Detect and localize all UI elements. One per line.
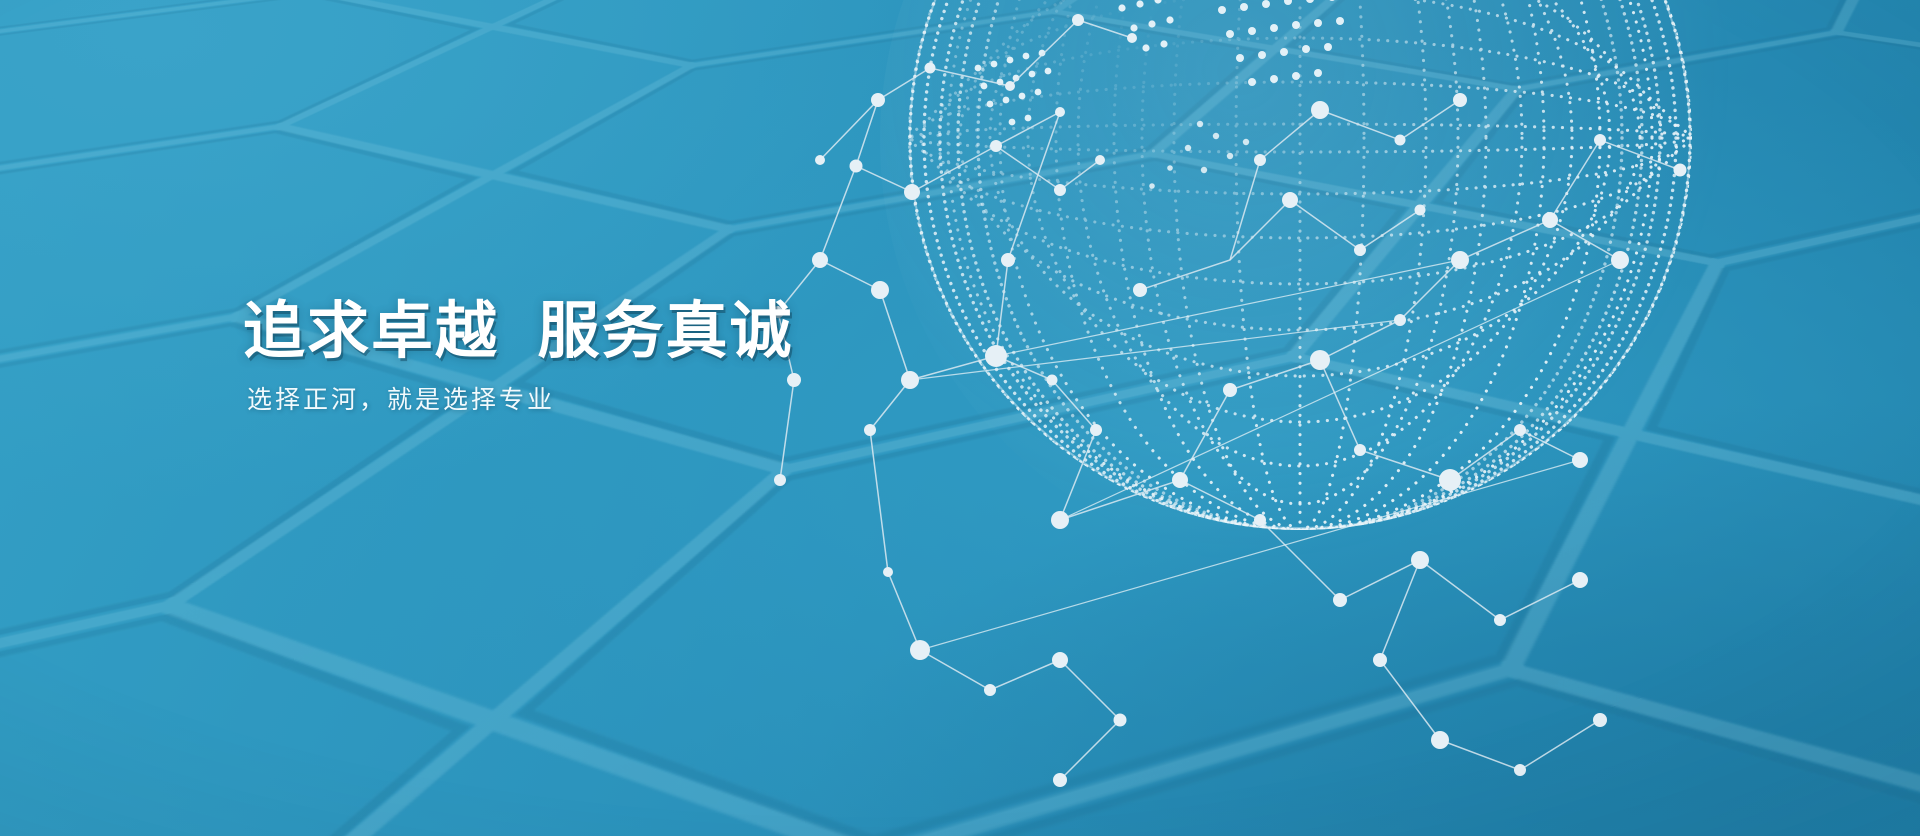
banner-subtitle: 选择正河，就是选择专业: [247, 385, 793, 415]
banner-copy: 追求卓越 服务真诚 选择正河，就是选择专业: [243, 300, 793, 415]
hero-banner: 追求卓越 服务真诚 选择正河，就是选择专业: [0, 0, 1920, 836]
banner-headline: 追求卓越 服务真诚: [243, 300, 793, 363]
background-gradient: [0, 0, 1920, 836]
